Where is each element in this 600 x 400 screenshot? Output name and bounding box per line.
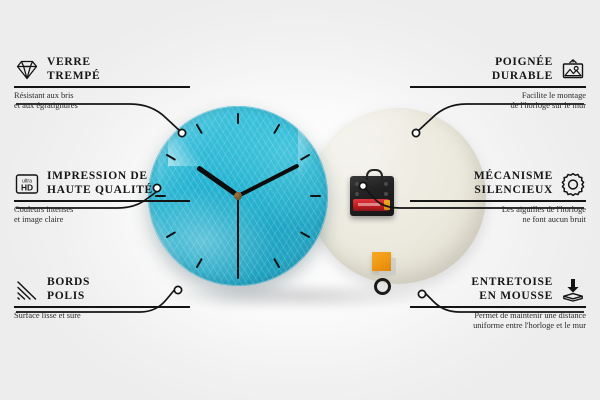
feature-poignee-durable: POIGNÉE DURABLE Facilite le montage de l… (410, 56, 586, 111)
feature-header: MÉCANISME SILENCIEUX (410, 170, 586, 197)
feature-desc-line2: et image claire (14, 215, 190, 225)
feature-title-line1: VERRE (47, 56, 100, 70)
feature-header: VERRE TREMPÉ (14, 56, 190, 83)
feature-title: IMPRESSION DE HAUTE QUALITÉ (47, 170, 153, 197)
feature-title-line2: POLIS (47, 290, 90, 304)
feature-description: Résistant aux bris et aux égratignures (14, 91, 190, 112)
quartz-movement (350, 176, 394, 216)
feature-divider (14, 200, 190, 202)
feature-desc-line1: Facilite le montage (410, 91, 586, 101)
feature-description: Facilite le montage de l'horloge sur le … (410, 91, 586, 112)
feature-description: Couleurs intenses et image claire (14, 205, 190, 226)
movement-hanger-icon (366, 169, 383, 180)
feature-title-line2: SILENCIEUX (474, 184, 553, 198)
feature-header: BORDS POLIS (14, 276, 190, 303)
mounting-nut-part (374, 278, 391, 295)
feature-entretoise-en-mousse: ENTRETOISE EN MOUSSE Permet de maintenir… (410, 276, 586, 331)
battery-positive-terminal (384, 200, 390, 210)
feature-title-line2: HAUTE QUALITÉ (47, 184, 153, 198)
feature-title-line1: MÉCANISME (474, 170, 553, 184)
feature-title-line1: POIGNÉE (492, 56, 553, 70)
feature-desc-line2: de l'horloge sur le mur (410, 101, 586, 111)
feature-title: POIGNÉE DURABLE (492, 56, 553, 83)
feature-desc-line1: Couleurs intenses (14, 205, 190, 215)
infographic-canvas: VERRE TREMPÉ Résistant aux bris et aux é… (0, 0, 600, 400)
feature-title-line2: EN MOUSSE (471, 290, 553, 304)
feature-header: ultra HD IMPRESSION DE HAUTE QUALITÉ (14, 170, 190, 197)
feature-header: POIGNÉE DURABLE (410, 56, 586, 83)
movement-screw (355, 182, 359, 186)
feature-title-line2: TREMPÉ (47, 70, 100, 84)
feature-title-line1: IMPRESSION DE (47, 170, 153, 184)
feature-title-line1: BORDS (47, 276, 90, 290)
battery (353, 199, 389, 211)
feature-divider (410, 86, 586, 88)
movement-screw (355, 192, 359, 196)
feature-description: Permet de maintenir une distance uniform… (410, 311, 586, 332)
feature-bords-polis: BORDS POLIS Surface lisse et sûre (14, 276, 190, 321)
foam-spacer-part (372, 252, 391, 271)
ultra-hd-icon-label-bottom: HD (21, 182, 33, 192)
feature-impression-haute-qualite: ultra HD IMPRESSION DE HAUTE QUALITÉ Cou… (14, 170, 190, 225)
feature-title: VERRE TREMPÉ (47, 56, 100, 83)
feature-desc-line1: Permet de maintenir une distance (410, 311, 586, 321)
movement-screw (384, 192, 388, 196)
feature-desc-line2: et aux égratignures (14, 101, 190, 111)
polished-edges-icon (14, 277, 40, 303)
feature-description: Les aiguilles de l'horloge ne font aucun… (410, 205, 586, 226)
feature-mecanisme-silencieux: MÉCANISME SILENCIEUX Les aiguilles de l'… (410, 170, 586, 225)
feature-divider (14, 306, 190, 308)
diamond-icon (14, 57, 40, 83)
feature-desc-line1: Résistant aux bris (14, 91, 190, 101)
movement-screw (384, 182, 388, 186)
feature-desc-line2: uniforme entre l'horloge et le mur (410, 321, 586, 331)
feature-description: Surface lisse et sûre (14, 311, 190, 321)
picture-hanger-icon (560, 57, 586, 83)
feature-desc-line1: Les aiguilles de l'horloge (410, 205, 586, 215)
feature-title: MÉCANISME SILENCIEUX (474, 170, 553, 197)
battery-label-band (358, 203, 380, 206)
gear-icon (560, 171, 586, 197)
feature-desc-line2: ne font aucun bruit (410, 215, 586, 225)
feature-divider (410, 200, 586, 202)
ultra-hd-icon: ultra HD (14, 171, 40, 197)
feature-title-line1: ENTRETOISE (471, 276, 553, 290)
feature-divider (410, 306, 586, 308)
feature-header: ENTRETOISE EN MOUSSE (410, 276, 586, 303)
feature-title: ENTRETOISE EN MOUSSE (471, 276, 553, 303)
feature-title: BORDS POLIS (47, 276, 90, 303)
feature-verre-trempe: VERRE TREMPÉ Résistant aux bris et aux é… (14, 56, 190, 111)
feature-title-line2: DURABLE (492, 70, 553, 84)
feature-divider (14, 86, 190, 88)
foam-spacer-icon (560, 277, 586, 303)
feature-desc-line1: Surface lisse et sûre (14, 311, 190, 321)
